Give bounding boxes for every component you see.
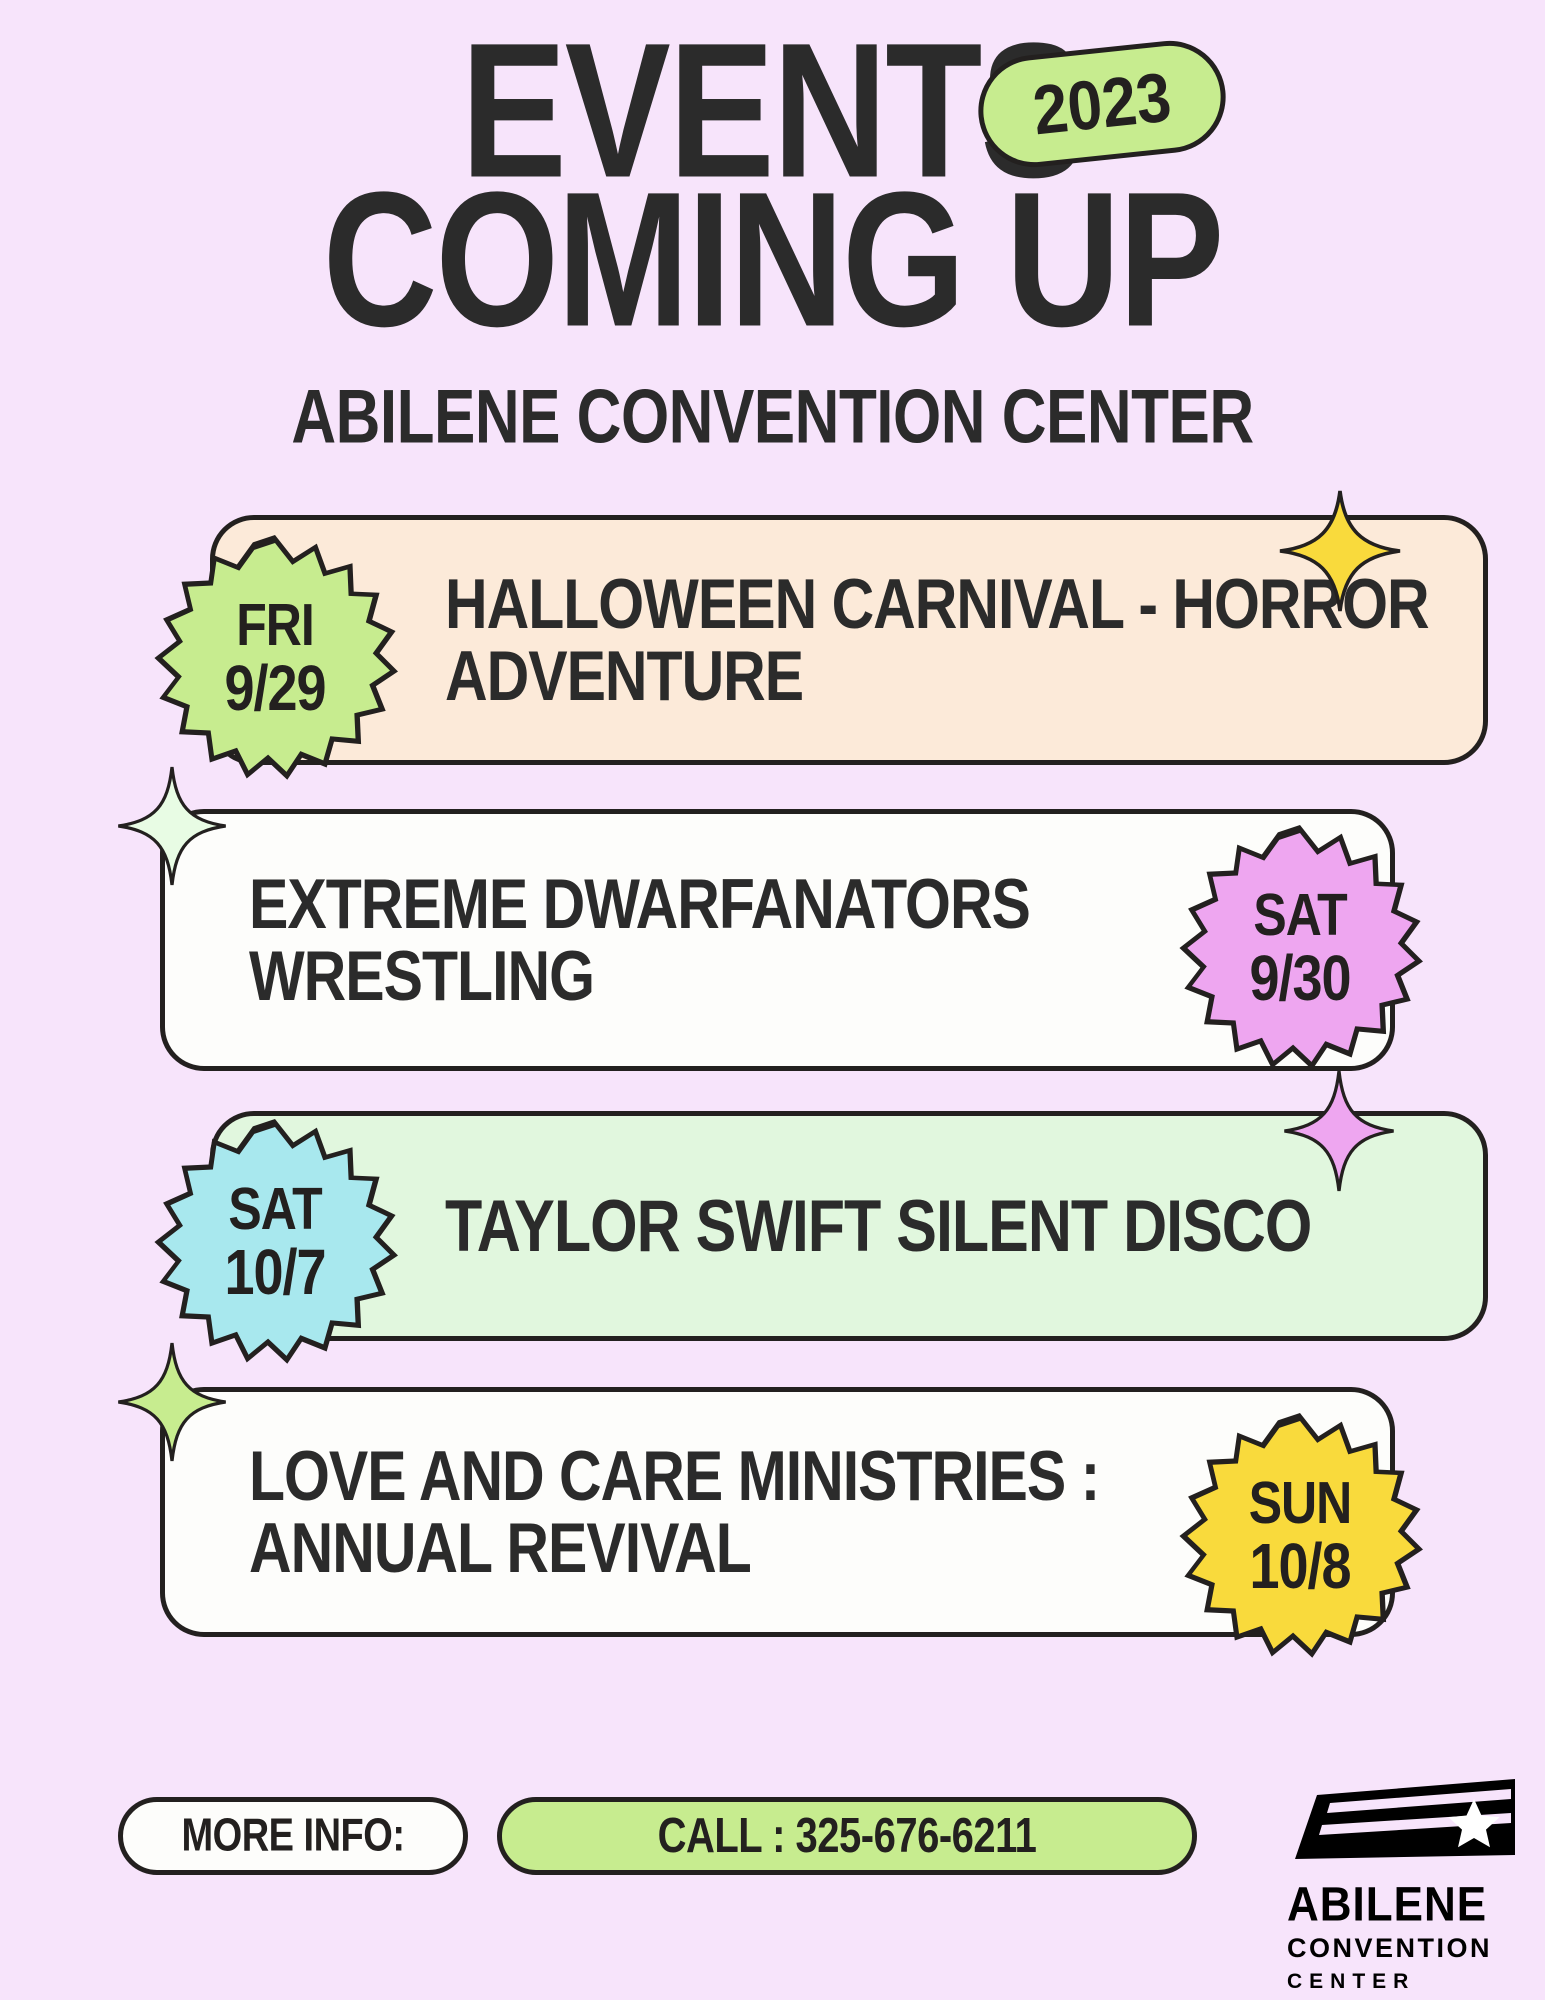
title-block: EVENTS COMING UP bbox=[0, 28, 1545, 306]
event-row-1: HALLOWEEN CARNIVAL - HORROR ADVENTURE FR… bbox=[0, 515, 1545, 765]
more-info-pill[interactable]: MORE INFO: bbox=[118, 1797, 468, 1875]
more-info-label: MORE INFO: bbox=[182, 1810, 405, 1862]
year-badge-label: 2023 bbox=[1029, 57, 1174, 151]
event-title-3: TAYLOR SWIFT SILENT DISCO bbox=[445, 1189, 1311, 1264]
event-day-2: SAT bbox=[1253, 882, 1346, 948]
event-title-4: LOVE AND CARE MINISTRIES : ANNUAL REVIVA… bbox=[249, 1440, 1150, 1584]
event-day-4: SUN bbox=[1249, 1470, 1352, 1536]
venue-logo: ABILENE CONVENTION CENTER bbox=[1287, 1777, 1527, 1992]
events-list: HALLOWEEN CARNIVAL - HORROR ADVENTURE FR… bbox=[0, 515, 1545, 1637]
event-day-1: FRI bbox=[236, 592, 314, 658]
event-date-3: 10/7 bbox=[224, 1237, 325, 1308]
call-pill[interactable]: CALL : 325-676-6211 bbox=[497, 1797, 1197, 1875]
poster-root: EVENTS COMING UP 2023 ABILENE CONVENTION… bbox=[0, 0, 1545, 2000]
logo-sub-1: CONVENTION bbox=[1287, 1935, 1527, 1962]
event-row-2: EXTREME DWARFANATORS WRESTLING SAT 9/30 bbox=[0, 809, 1545, 1071]
sparkle-yellow-icon bbox=[1280, 491, 1400, 611]
event-row-3: TAYLOR SWIFT SILENT DISCO SAT 10/7 bbox=[0, 1111, 1545, 1341]
logo-sub-2: CENTER bbox=[1287, 1971, 1527, 1992]
event-date-4: 10/8 bbox=[1249, 1531, 1350, 1602]
event-date-1: 9/29 bbox=[224, 653, 325, 724]
poster-header: EVENTS COMING UP 2023 ABILENE CONVENTION… bbox=[0, 0, 1545, 453]
poster-footer: MORE INFO: CALL : 325-676-6211 ABILENE C… bbox=[0, 1750, 1545, 2000]
event-title-2: EXTREME DWARFANATORS WRESTLING bbox=[249, 868, 1150, 1012]
logo-name: ABILENE bbox=[1287, 1881, 1527, 1929]
sparkle-green-icon bbox=[118, 1343, 226, 1461]
sparkle-pink-icon bbox=[1283, 1071, 1395, 1191]
event-date-2: 9/30 bbox=[1249, 943, 1350, 1014]
logo-mark-icon bbox=[1287, 1777, 1517, 1872]
sparkle-mint-icon bbox=[118, 767, 226, 885]
event-row-4: LOVE AND CARE MINISTRIES : ANNUAL REVIVA… bbox=[0, 1387, 1545, 1637]
event-day-3: SAT bbox=[228, 1176, 321, 1242]
page-title-line-2: COMING UP bbox=[0, 177, 1545, 342]
venue-subtitle: ABILENE CONVENTION CENTER bbox=[0, 374, 1545, 461]
call-label: CALL : 325-676-6211 bbox=[658, 1809, 1037, 1864]
